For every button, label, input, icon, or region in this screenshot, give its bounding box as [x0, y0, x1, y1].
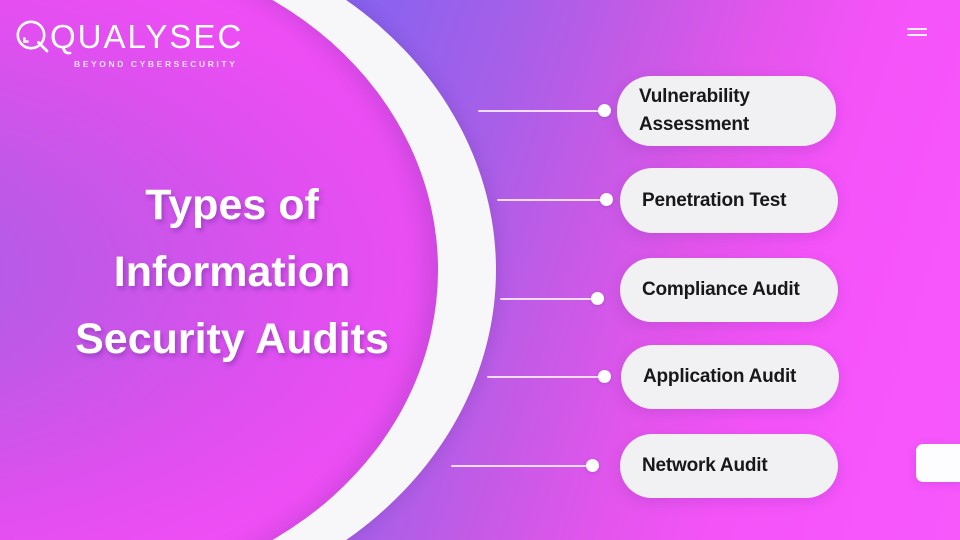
connector-line-3 [500, 298, 602, 300]
list-item-vulnerability-assessment[interactable]: Vulnerability Assessment [617, 76, 836, 146]
connector-line-5 [451, 465, 599, 467]
connector-line-4 [487, 376, 607, 378]
connector-dot-3 [591, 292, 604, 305]
brand-logo[interactable]: QUALYSEC BEYOND CYBERSECURITY [14, 18, 254, 74]
card-label: Vulnerability Assessment [639, 83, 814, 138]
list-item-penetration-test[interactable]: Penetration Test [620, 168, 838, 233]
page-title: Types of Information Security Audits [22, 172, 442, 373]
card-label: Network Audit [642, 452, 767, 480]
page-title-line-2: Information [22, 239, 442, 306]
connector-dot-2 [600, 193, 613, 206]
card-label: Application Audit [643, 363, 796, 391]
card-label: Compliance Audit [642, 276, 800, 304]
connector-dot-5 [586, 459, 599, 472]
connector-dot-1 [598, 104, 611, 117]
brand-tagline: BEYOND CYBERSECURITY [74, 59, 254, 69]
list-item-application-audit[interactable]: Application Audit [621, 345, 839, 409]
hamburger-bar-1 [907, 28, 927, 30]
page-title-line-1: Types of [22, 172, 442, 239]
list-item-network-audit[interactable]: Network Audit [620, 434, 838, 498]
connector-line-2 [497, 199, 607, 201]
slide-canvas: QUALYSEC BEYOND CYBERSECURITY Types of I… [0, 0, 960, 540]
connector-dot-4 [598, 370, 611, 383]
hamburger-bar-2 [907, 34, 927, 36]
page-title-line-3: Security Audits [22, 306, 442, 373]
card-label: Penetration Test [642, 187, 786, 215]
connector-line-1 [478, 110, 604, 112]
list-item-compliance-audit[interactable]: Compliance Audit [620, 258, 838, 322]
magnifier-q-icon [14, 18, 52, 56]
edge-chip [916, 444, 960, 482]
logo-row: QUALYSEC [14, 18, 254, 56]
hamburger-menu-icon[interactable] [907, 28, 927, 37]
brand-wordmark: QUALYSEC [50, 18, 243, 56]
